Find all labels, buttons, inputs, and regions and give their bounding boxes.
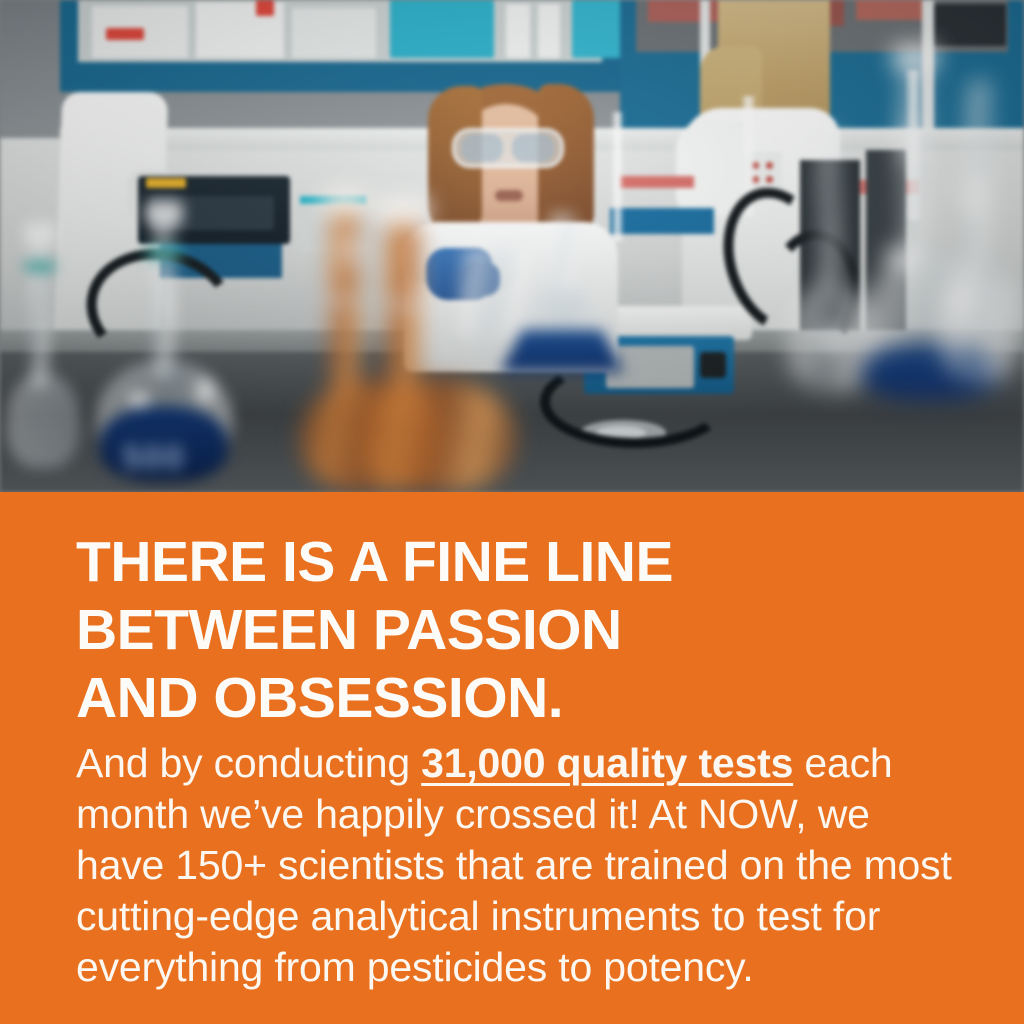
bokeh-highlight [960, 170, 986, 220]
glassware-neck-right [900, 60, 930, 270]
stat-highlight: 31,000 quality tests [421, 740, 793, 786]
bokeh-highlight [820, 330, 846, 350]
poster: 500 [0, 0, 1024, 1024]
page-title: THERE IS A FINE LINE BETWEEN PASSION AND… [76, 528, 976, 732]
glassware-neck [818, 130, 840, 290]
glassware-stopper-right [892, 44, 938, 70]
body-copy: And by conducting 31,000 quality tests e… [76, 738, 952, 993]
amber-flask-bulb-2 [356, 378, 516, 492]
glassware-bulb-far-right [938, 262, 1024, 382]
amber-flask-graduation [328, 296, 362, 305]
bokeh-highlight [340, 230, 358, 270]
body-copy-before: And by conducting [76, 740, 421, 786]
foreground-bokeh-layer [0, 0, 1024, 492]
amber-flask-graduation-2 [384, 300, 422, 310]
amber-flask-stopper [322, 188, 368, 216]
bokeh-highlight [884, 246, 918, 270]
amber-flask-stopper-2 [377, 196, 429, 226]
lab-photo: 500 [0, 0, 1024, 492]
bokeh-highlight [898, 120, 922, 166]
bokeh-highlight [944, 290, 974, 312]
